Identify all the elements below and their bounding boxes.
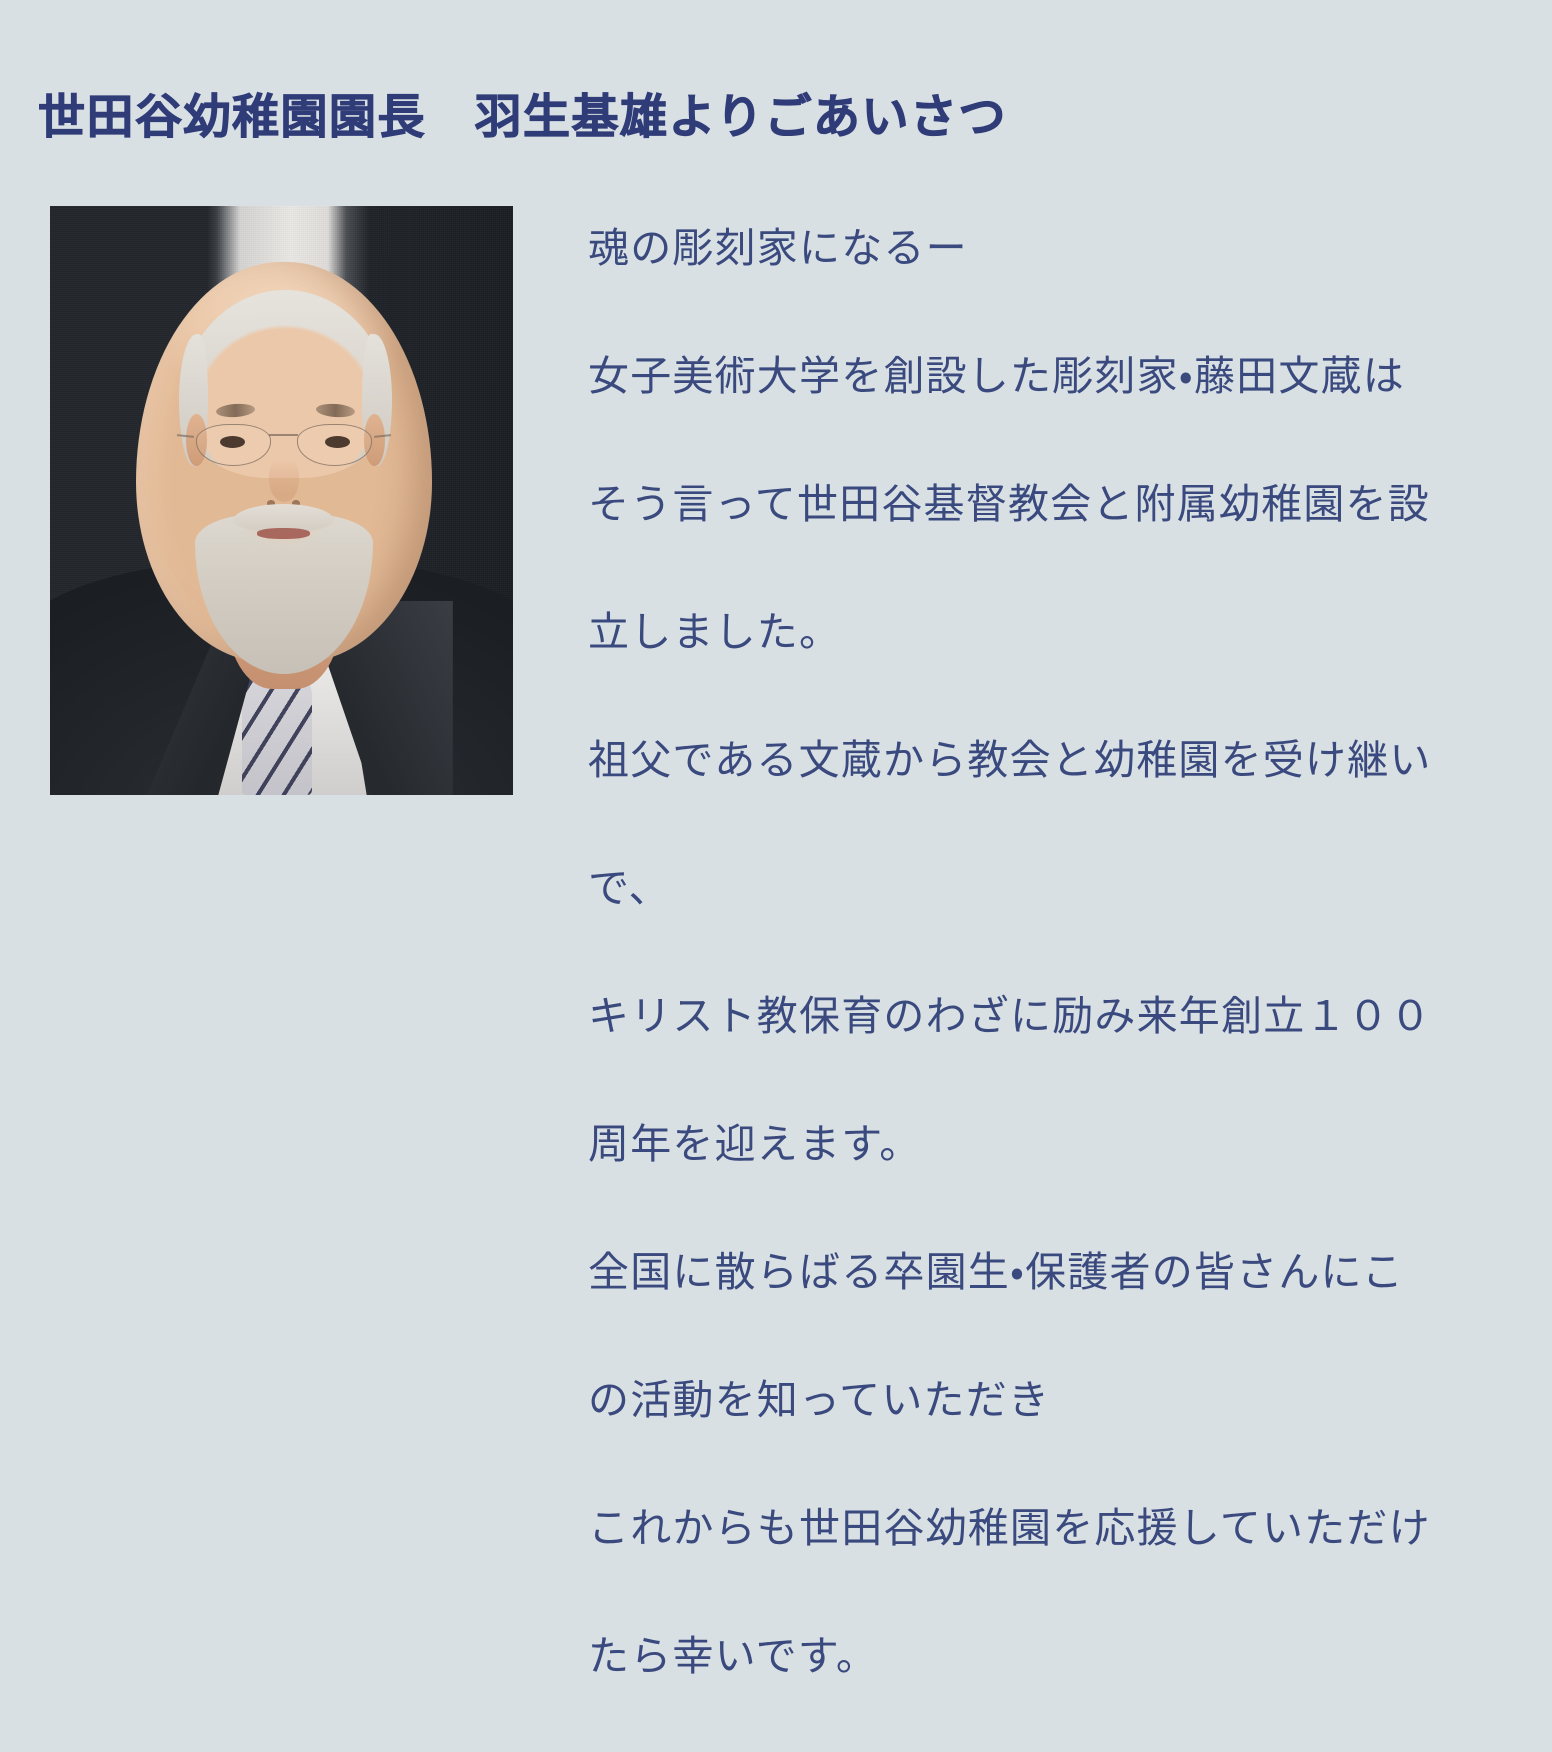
greeting-line: で、 xyxy=(588,856,1488,920)
greeting-page: 世田谷幼稚園園長 羽生基雄よりごあいさつ xyxy=(0,0,1552,968)
greeting-line: 祖父である文蔵から教会と幼稚園を受け継い xyxy=(588,728,1488,792)
greeting-line: 立しました。 xyxy=(588,600,1488,664)
greeting-line: キリスト教保育のわざに励み来年創立１００ xyxy=(588,984,1488,1048)
greeting-line: 全国に散らばる卒園生・保護者の皆さんにこ xyxy=(588,1240,1488,1304)
greeting-line: これからも世田谷幼稚園を応援していただけ xyxy=(588,1496,1488,1560)
portrait-image xyxy=(50,206,513,795)
nose xyxy=(269,458,299,502)
greeting-line: そう言って世田谷基督教会と附属幼稚園を設 xyxy=(588,472,1488,536)
greeting-line: 女子美術大学を創設した彫刻家・藤田文蔵は xyxy=(588,344,1488,408)
glasses-bridge xyxy=(269,434,298,436)
principal-portrait-photo xyxy=(50,206,513,795)
greeting-line: 魂の彫刻家になるー xyxy=(588,216,1488,280)
greeting-text-block: 魂の彫刻家になるー 女子美術大学を創設した彫刻家・藤田文蔵は そう言って世田谷基… xyxy=(588,152,1488,1752)
page-title: 世田谷幼稚園園長 羽生基雄よりごあいさつ xyxy=(38,89,1007,144)
greeting-line: の活動を知っていただき xyxy=(588,1368,1488,1432)
mouth xyxy=(257,528,310,538)
greeting-line: 周年を迎えます。 xyxy=(588,1112,1488,1176)
greeting-line: たら幸いです。 xyxy=(588,1624,1488,1688)
